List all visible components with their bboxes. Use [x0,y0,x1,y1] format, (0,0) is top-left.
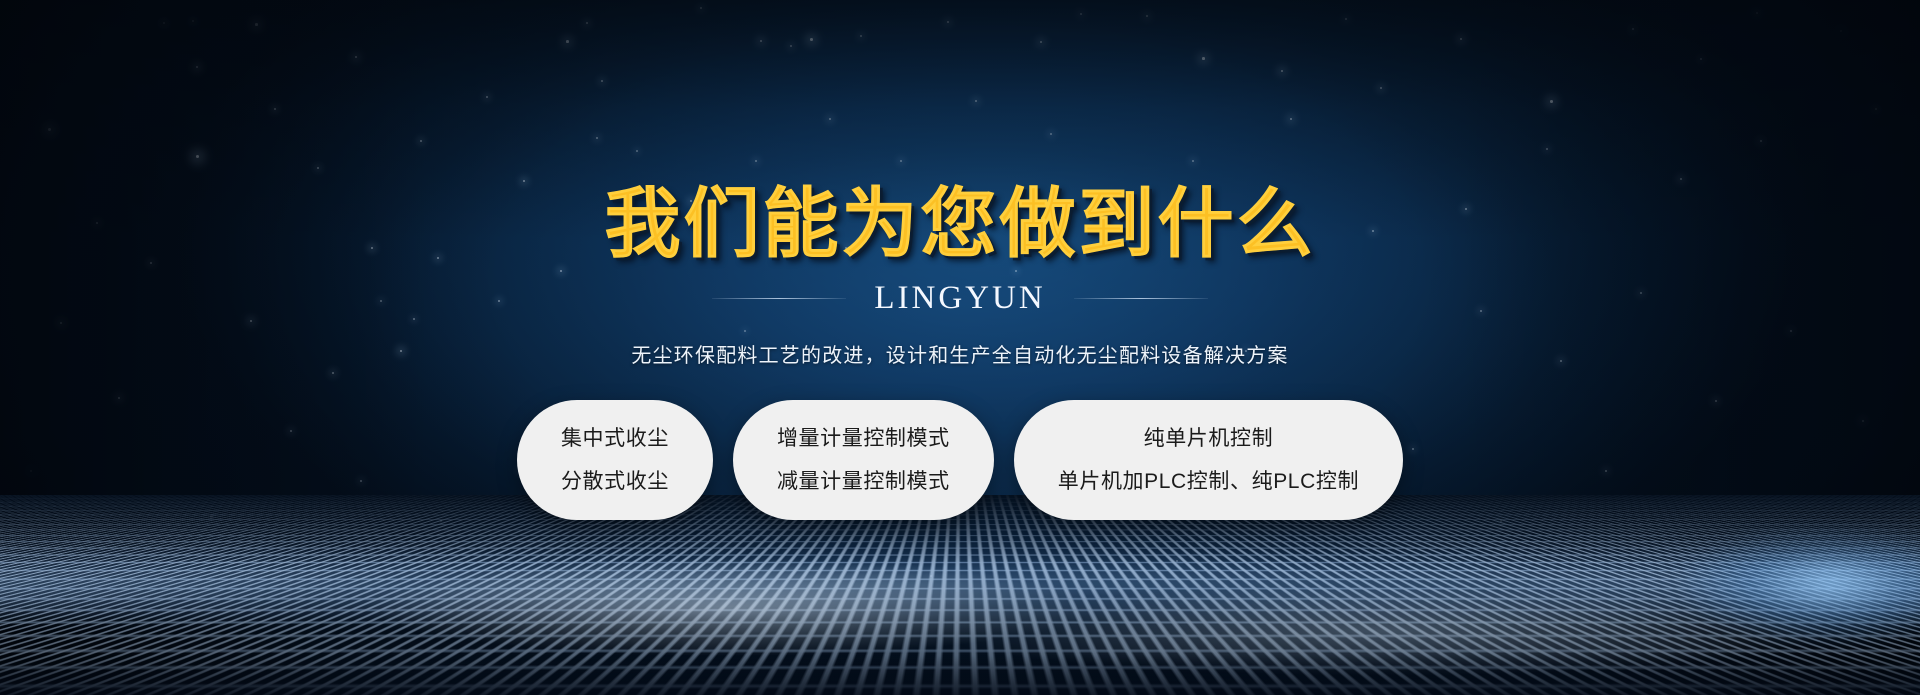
feature-card-line: 减量计量控制模式 [777,471,950,492]
banner-description: 无尘环保配料工艺的改进，设计和生产全自动化无尘配料设备解决方案 [631,339,1288,368]
feature-card[interactable]: 集中式收尘 分散式收尘 [517,400,713,520]
banner-headline: 我们能为您做到什么 [605,184,1316,266]
subtitle-row: LINGYUN [712,280,1207,317]
feature-card-line: 单片机加PLC控制、纯PLC控制 [1058,471,1359,492]
feature-card-line: 增量计量控制模式 [777,428,950,449]
feature-card-list: 集中式收尘 分散式收尘 增量计量控制模式 减量计量控制模式 纯单片机控制 单片机… [517,400,1403,520]
banner-content: 我们能为您做到什么 LINGYUN 无尘环保配料工艺的改进，设计和生产全自动化无… [0,0,1920,695]
feature-card-line: 纯单片机控制 [1144,428,1274,449]
subtitle-rule-right [1074,298,1208,299]
hero-banner: 我们能为您做到什么 LINGYUN 无尘环保配料工艺的改进，设计和生产全自动化无… [0,0,1920,695]
banner-subtitle-en: LINGYUN [874,280,1045,317]
subtitle-rule-left [712,298,846,299]
feature-card[interactable]: 增量计量控制模式 减量计量控制模式 [733,400,994,520]
feature-card[interactable]: 纯单片机控制 单片机加PLC控制、纯PLC控制 [1014,400,1403,520]
feature-card-line: 分散式收尘 [561,471,669,492]
feature-card-line: 集中式收尘 [561,428,669,449]
